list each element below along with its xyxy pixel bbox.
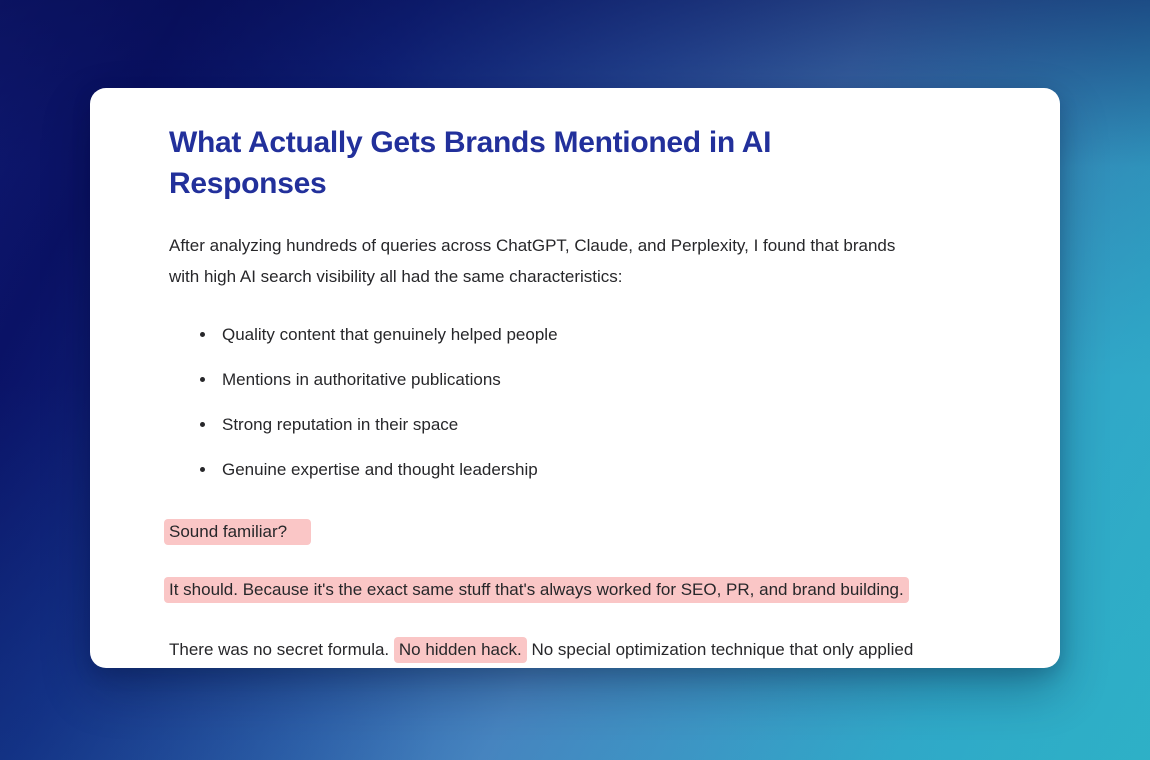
- highlighted-text-sound-familiar: Sound familiar?: [164, 519, 311, 545]
- highlighted-text-no-hidden-hack: No hidden hack.: [394, 637, 527, 663]
- closing-text-lead: There was no secret formula.: [169, 640, 394, 659]
- highlighted-text-it-should: It should. Because it's the exact same s…: [164, 577, 909, 603]
- list-item: Quality content that genuinely helped pe…: [191, 322, 1002, 348]
- list-item: Genuine expertise and thought leadership: [191, 457, 1002, 483]
- it-should-paragraph: It should. Because it's the exact same s…: [164, 574, 924, 605]
- closing-paragraph: There was no secret formula. No hidden h…: [169, 634, 929, 668]
- list-item: Mentions in authoritative publications: [191, 367, 1002, 393]
- page-title: What Actually Gets Brands Mentioned in A…: [169, 122, 829, 204]
- list-item: Strong reputation in their space: [191, 412, 1002, 438]
- intro-paragraph: After analyzing hundreds of queries acro…: [169, 230, 929, 292]
- sound-familiar-paragraph: Sound familiar?: [164, 516, 924, 547]
- characteristics-list: Quality content that genuinely helped pe…: [169, 322, 1002, 483]
- content-card: What Actually Gets Brands Mentioned in A…: [90, 88, 1060, 668]
